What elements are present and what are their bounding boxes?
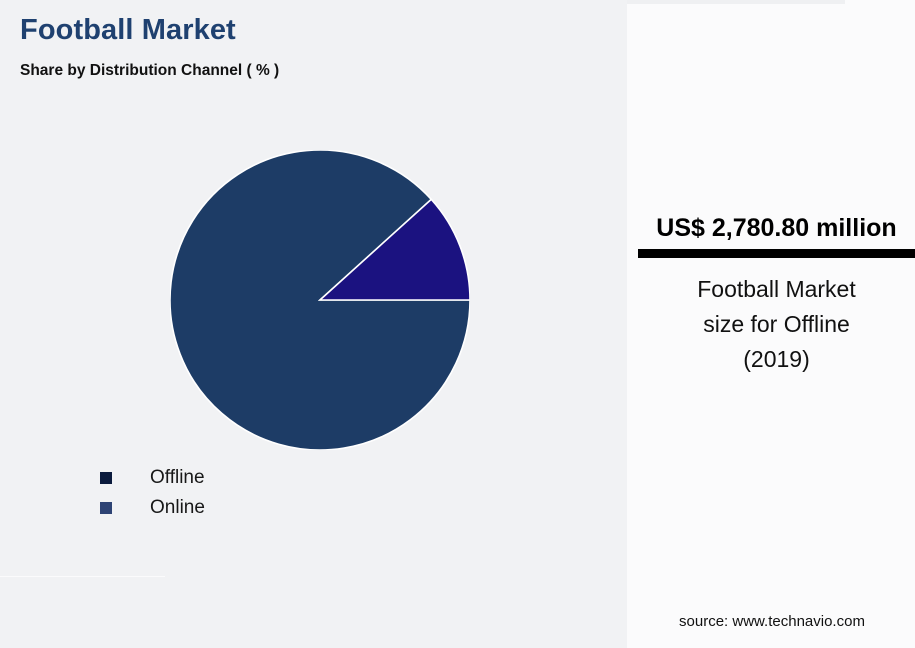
stat-value: US$ 2,780.80 million xyxy=(638,214,915,243)
top-band xyxy=(627,0,845,4)
legend-label-offline: Offline xyxy=(150,467,205,489)
legend-item-offline[interactable]: Offline xyxy=(100,463,205,493)
legend-item-online[interactable]: Online xyxy=(100,493,205,523)
legend-swatch-online xyxy=(100,502,112,514)
stat-caption-line-1: Football Market xyxy=(638,272,915,307)
chart-subtitle: Share by Distribution Channel ( % ) xyxy=(20,62,279,80)
chart-canvas: Football Market Share by Distribution Ch… xyxy=(0,0,915,648)
chart-panel: Football Market Share by Distribution Ch… xyxy=(0,0,627,648)
source-note: source: www.technavio.com xyxy=(638,613,906,630)
stat-caption-line-3: (2019) xyxy=(638,342,915,377)
pie-chart xyxy=(170,150,470,450)
pie-chart-svg xyxy=(170,150,470,450)
stat-rule xyxy=(638,249,915,258)
stat-caption: Football Market size for Offline (2019) xyxy=(638,272,915,377)
legend-label-online: Online xyxy=(150,497,205,519)
legend-swatch-offline xyxy=(100,472,112,484)
footer-divider xyxy=(0,576,165,577)
legend: Offline Online xyxy=(100,463,205,523)
page-title: Football Market xyxy=(20,14,236,47)
stat-caption-line-2: size for Offline xyxy=(638,307,915,342)
